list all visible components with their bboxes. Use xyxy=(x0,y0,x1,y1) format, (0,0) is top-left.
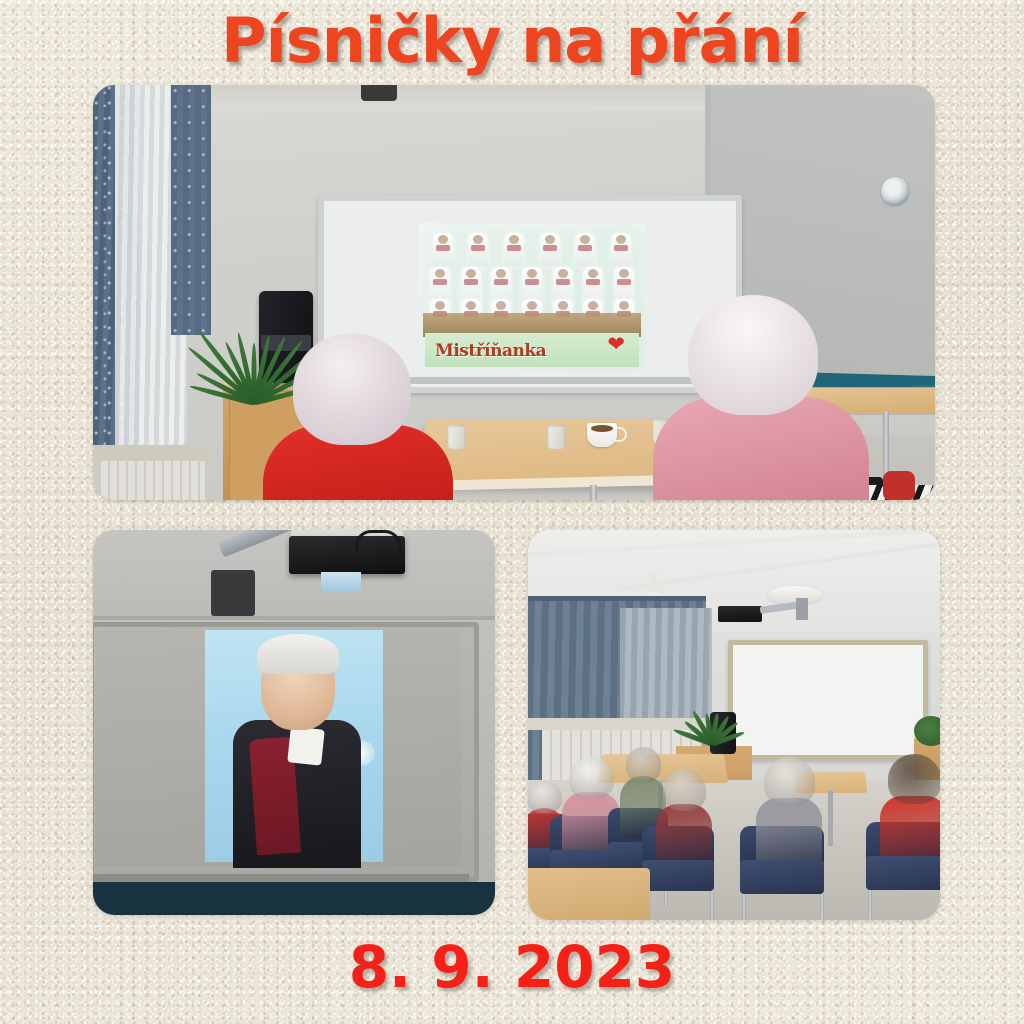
band-member xyxy=(468,233,488,267)
band-member-costume xyxy=(507,245,521,251)
coffee-surface xyxy=(591,425,613,432)
band-member-costume xyxy=(464,279,478,285)
whiteboard-tray xyxy=(93,874,469,882)
chair-seat xyxy=(740,860,824,894)
band-member-head xyxy=(619,301,629,310)
band-member-head xyxy=(558,269,568,278)
band-member xyxy=(575,233,595,267)
projector-wall-plate xyxy=(211,570,255,616)
person-striped-accent xyxy=(883,471,915,500)
radiator xyxy=(101,461,205,500)
band-member-costume xyxy=(617,279,631,285)
band-member-head xyxy=(466,269,476,278)
band-member-head xyxy=(527,269,537,278)
band-member-head xyxy=(438,235,448,244)
band-member-costume xyxy=(543,245,557,251)
band-member xyxy=(504,233,524,267)
projector-mount xyxy=(361,85,397,101)
band-member-head xyxy=(496,269,506,278)
projected-person-hair xyxy=(257,634,339,674)
band-member-costume xyxy=(578,245,592,251)
band-member-head xyxy=(616,235,626,244)
band-member-costume xyxy=(471,245,485,251)
band-member-costume xyxy=(586,279,600,285)
photo-top: Mistříňanka ❤ xyxy=(93,85,935,500)
resident-green-shirt-hair xyxy=(626,747,662,781)
decorative-plate-icon-2 xyxy=(881,177,909,205)
teal-wall-stripe xyxy=(93,882,495,915)
photo-top-scene: Mistříňanka ❤ xyxy=(93,85,935,500)
band-member xyxy=(540,233,560,267)
photo-bottom-left xyxy=(93,530,495,915)
resident-grey-sweater-hair xyxy=(764,757,815,806)
band-member-costume xyxy=(614,245,628,251)
band-member xyxy=(433,233,453,267)
ceiling-fan-rod xyxy=(650,572,657,594)
projected-image: Mistříňanka ❤ xyxy=(419,223,645,371)
photo-bl-scene xyxy=(93,530,495,915)
projected-person-shirt xyxy=(287,726,325,765)
band-member-head xyxy=(496,301,506,310)
band-member-head xyxy=(527,301,537,310)
heart-icon: ❤ xyxy=(607,332,625,357)
band-row-back xyxy=(425,233,639,267)
band-member-head xyxy=(509,235,519,244)
band-member-head xyxy=(580,235,590,244)
band-member-head xyxy=(619,269,629,278)
chair-leg xyxy=(868,890,872,920)
potted-plant-right xyxy=(914,716,940,746)
photo-bottom-right xyxy=(528,530,940,920)
poster-background: Písničky na přání xyxy=(0,0,1024,1024)
potted-plant xyxy=(694,702,730,744)
decorative-plate-icon xyxy=(875,115,907,147)
main-table-leg xyxy=(590,485,597,500)
table-right-leg xyxy=(828,790,833,846)
band-member-costume xyxy=(525,279,539,285)
band-member-costume xyxy=(556,279,570,285)
band-member-head xyxy=(473,235,483,244)
yucca-plant xyxy=(209,307,299,403)
curtain-patterned-middle xyxy=(171,85,211,335)
resident-red-cardigan-left-hair xyxy=(528,781,562,814)
resident-patterned-top-hair xyxy=(663,769,707,810)
table-foreground xyxy=(528,868,650,920)
drinking-glass xyxy=(448,425,465,449)
band-member-head xyxy=(588,301,598,310)
projector-cable xyxy=(355,530,401,553)
chair-seat xyxy=(866,856,940,890)
projector-lens xyxy=(321,572,361,592)
ceiling-edge xyxy=(93,616,495,620)
person-pink-hair xyxy=(688,295,818,415)
chair-leg xyxy=(820,894,824,920)
window-sill xyxy=(93,445,211,461)
window-sill xyxy=(528,718,706,730)
curtain-rail xyxy=(528,596,706,601)
band-member-costume xyxy=(494,279,508,285)
chair-leg xyxy=(710,891,714,920)
band-member-head xyxy=(558,301,568,310)
page-title: Písničky na přání xyxy=(0,4,1024,77)
table-left xyxy=(598,754,729,783)
band-member-costume xyxy=(436,245,450,251)
projector-wall-plate xyxy=(796,598,808,620)
date-stamp: 8. 9. 2023 xyxy=(0,933,1024,1001)
resident-pink-sweater-hair xyxy=(569,756,614,799)
person-red-hair xyxy=(293,333,411,445)
photo-br-scene xyxy=(528,530,940,920)
band-member xyxy=(611,233,631,267)
chair-leg xyxy=(742,894,746,920)
drinking-glass-2 xyxy=(548,425,565,449)
band-name-label: Mistříňanka xyxy=(435,341,546,361)
projector xyxy=(718,606,762,622)
chair-seat xyxy=(642,860,714,891)
band-member-head xyxy=(466,301,476,310)
projected-caption-bar: Mistříňanka ❤ xyxy=(425,333,639,367)
band-member-head xyxy=(588,269,598,278)
band-member-costume xyxy=(433,279,447,285)
band-member-head xyxy=(435,269,445,278)
resident-red-vest-right-hair xyxy=(888,754,940,804)
projection-screen xyxy=(728,640,928,760)
band-member-head xyxy=(435,301,445,310)
band-member-head xyxy=(545,235,555,244)
